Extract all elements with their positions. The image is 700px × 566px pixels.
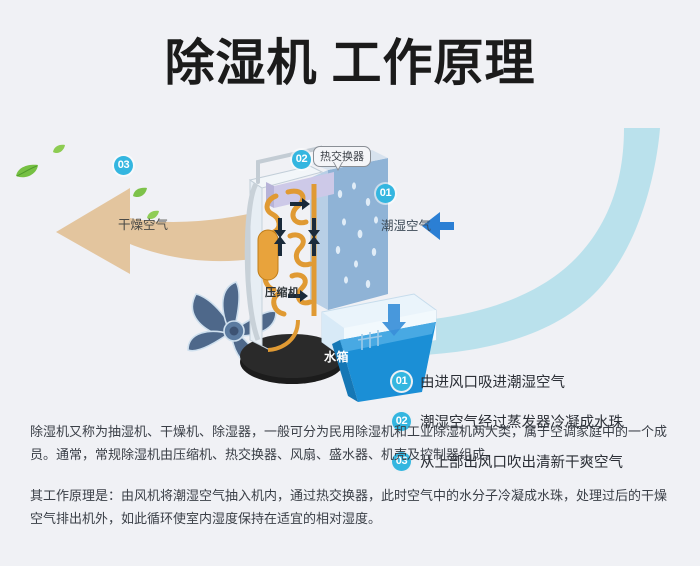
diagram-stage: 03 02 01 热交换器 干燥空气 潮湿空气 压缩机 水箱 01 由进风口吸进…	[0, 118, 700, 408]
paragraph-2: 其工作原理是：由风机将潮湿空气抽入机内，通过热交换器，此时空气中的水分子冷凝成水…	[30, 484, 675, 530]
diagram-badge-03: 03	[114, 156, 133, 175]
diagram-badge-02: 02	[292, 150, 311, 169]
title-part-1: 除湿机	[165, 35, 318, 91]
paragraph-1: 除湿机又称为抽湿机、干燥机、除湿器，一般可分为民用除湿机和工业除湿机两大类，属于…	[30, 420, 675, 466]
label-dry-air: 干燥空气	[118, 214, 168, 233]
step-text-01: 由进风口吸进潮湿空气	[420, 371, 565, 392]
page-root: 除湿机工作原理	[0, 0, 700, 566]
list-item: 01 由进风口吸进潮湿空气	[392, 371, 682, 392]
leaf-icon	[132, 186, 148, 204]
leaf-icon	[14, 164, 40, 185]
title-part-2: 工作原理	[332, 35, 536, 91]
label-compressor: 压缩机	[265, 284, 300, 300]
dehumidifier-machine	[236, 144, 456, 404]
label-humid-air: 潮湿空气	[381, 215, 431, 234]
leaf-icon	[52, 142, 66, 160]
page-title: 除湿机工作原理	[0, 34, 700, 92]
label-water-tank: 水箱	[324, 348, 349, 365]
description-block: 除湿机又称为抽湿机、干燥机、除湿器，一般可分为民用除湿机和工业除湿机两大类，属于…	[30, 420, 675, 530]
step-badge-01: 01	[392, 372, 411, 391]
diagram-badge-01: 01	[376, 184, 395, 203]
callout-pointer-icon	[333, 162, 343, 171]
